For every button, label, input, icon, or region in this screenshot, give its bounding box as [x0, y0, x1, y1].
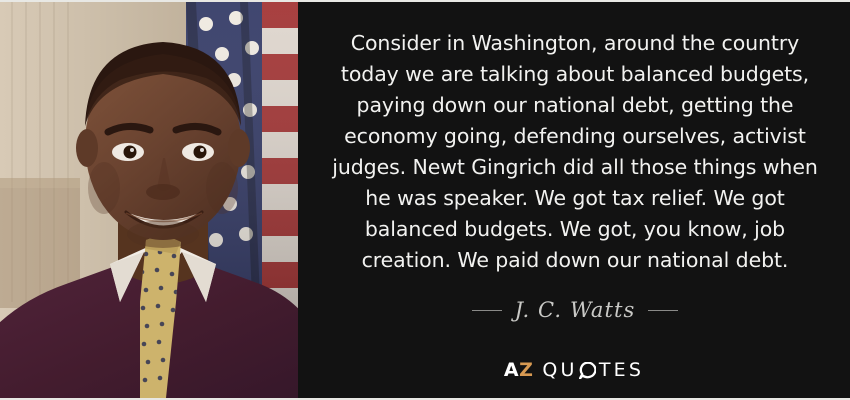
logo-letters-tes: TES — [599, 361, 644, 380]
quote-card: Consider in Washington, around the count… — [0, 0, 850, 400]
author-portrait-photo — [0, 2, 298, 398]
logo-letter-u: U — [561, 361, 578, 380]
quote-text: Consider in Washington, around the count… — [322, 28, 828, 276]
quote-attribution: J. C. Watts — [322, 298, 828, 322]
attribution-dash-right — [648, 310, 678, 311]
logo-az-mark: AZ — [504, 361, 534, 380]
logo-quotes-wordmark: QUTES — [542, 361, 644, 380]
speech-bubble-icon — [579, 362, 596, 379]
logo-letter-z: Z — [519, 359, 533, 381]
logo-letter-a: A — [504, 359, 519, 381]
portrait-illustration — [0, 2, 298, 398]
logo-letter-q: Q — [542, 361, 560, 380]
attribution-dash-left — [472, 310, 502, 311]
author-name: J. C. Watts — [515, 298, 636, 322]
quote-content-pane: Consider in Washington, around the count… — [298, 2, 850, 398]
azquotes-logo[interactable]: AZ QUTES — [298, 361, 850, 380]
